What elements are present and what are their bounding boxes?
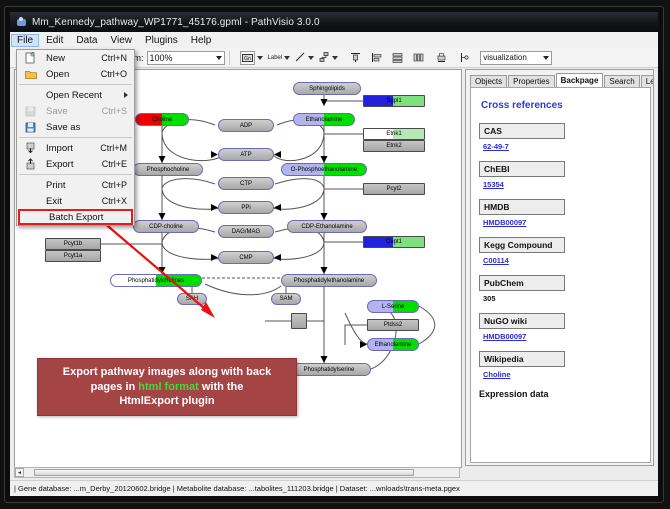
import-icon [24, 142, 37, 155]
file-menu-dropdown[interactable]: NewCtrl+NOpenCtrl+OOpen RecentSaveCtrl+S… [16, 49, 135, 226]
screenshot-frame: Mm_Kennedy_pathway_WP1771_45176.gpml - P… [0, 0, 670, 509]
menu-item-label: Save as [46, 122, 80, 133]
line-dropdown-icon[interactable] [308, 56, 314, 60]
menu-item-shortcut: Ctrl+N [101, 53, 127, 63]
menu-item-exit[interactable]: ExitCtrl+X [17, 193, 134, 209]
print-icon[interactable] [436, 52, 447, 63]
toolbar-separator [229, 51, 230, 65]
menu-separator [19, 137, 132, 138]
menu-separator [19, 84, 132, 85]
xref-db-label: HMDB [479, 199, 565, 215]
group-icon[interactable] [459, 52, 470, 63]
zoom-value: 100% [150, 53, 173, 63]
xref-db-label: Kegg Compound [479, 237, 565, 253]
menu-item-shortcut: Ctrl+S [102, 106, 127, 116]
menu-view[interactable]: View [104, 34, 138, 47]
status-text: | Gene database: ...m_Derby_20120602.bri… [14, 484, 460, 493]
status-bar: | Gene database: ...m_Derby_20120602.bri… [10, 480, 658, 496]
menu-item-shortcut: Ctrl+E [102, 159, 127, 169]
expression-data-heading: Expression data [479, 389, 642, 399]
tab-legend[interactable]: Legend [641, 75, 654, 87]
menu-item-label: New [46, 53, 65, 64]
menu-item-open-recent[interactable]: Open Recent [17, 87, 134, 103]
menu-item-open[interactable]: OpenCtrl+O [17, 66, 134, 82]
xref-value: 305 [483, 294, 642, 303]
menu-item-label: Save [46, 106, 68, 117]
menu-item-label: Batch Export [49, 212, 103, 223]
menu-help[interactable]: Help [185, 34, 218, 47]
menu-item-shortcut: Ctrl+O [101, 69, 127, 79]
export-icon [24, 158, 37, 171]
menu-item-label: Print [46, 180, 66, 191]
stack-icon[interactable] [392, 52, 403, 63]
menu-item-print[interactable]: PrintCtrl+P [17, 177, 134, 193]
xref-db-label: NuGO wiki [479, 313, 565, 329]
annotation-callout: Export pathway images along with back pa… [37, 358, 297, 416]
chevron-down-icon [543, 56, 549, 60]
annotation-line1: Export pathway images along with back [63, 366, 271, 378]
menu-file[interactable]: File [11, 34, 39, 47]
xref-db-label: PubChem [479, 275, 565, 291]
save-icon [24, 105, 37, 118]
cross-reference-list: CAS62-49-7ChEBI15354HMDBHMDB00097Kegg Co… [479, 123, 642, 379]
new-file-icon [24, 52, 37, 65]
canvas-hscrollbar[interactable]: ◄ [14, 467, 460, 478]
connector-dropdown-icon[interactable] [332, 56, 338, 60]
menu-item-label: Export [46, 159, 73, 170]
menu-item-import[interactable]: ImportCtrl+M [17, 140, 134, 156]
pathvisio-window: Mm_Kennedy_pathway_WP1771_45176.gpml - P… [10, 12, 658, 496]
zoom-combobox[interactable]: 100% [147, 51, 225, 65]
menu-item-save: SaveCtrl+S [17, 103, 134, 119]
chevron-down-icon [216, 56, 222, 60]
annotation-line2-b: with the [199, 381, 244, 393]
xref-link[interactable]: 15354 [483, 180, 642, 189]
menu-bar[interactable]: File Edit Data View Plugins Help [10, 32, 658, 49]
chevron-right-icon [124, 92, 128, 98]
backpage-content[interactable]: Cross references CAS62-49-7ChEBI15354HMD… [470, 87, 651, 463]
xref-db-label: ChEBI [479, 161, 565, 177]
label-dropdown-icon[interactable] [284, 56, 290, 60]
menu-item-label: Exit [46, 196, 62, 207]
save-as-icon [24, 121, 37, 134]
xref-link[interactable]: 62-49-7 [483, 142, 642, 151]
menu-data[interactable]: Data [70, 34, 103, 47]
cross-references-heading: Cross references [481, 100, 642, 111]
menu-item-label: Open [46, 69, 69, 80]
window-title: Mm_Kennedy_pathway_WP1771_45176.gpml - P… [32, 17, 320, 28]
menu-item-batch-export[interactable]: Batch Export [18, 209, 133, 225]
visualization-combobox[interactable]: visualization [480, 51, 552, 65]
menu-item-new[interactable]: NewCtrl+N [17, 50, 134, 66]
pathvisio-icon [16, 17, 27, 28]
align-top-icon[interactable] [350, 52, 361, 63]
annotation-text: Export pathway images along with back pa… [55, 365, 279, 410]
side-panel: Objects Properties Backpage Search Legen… [465, 69, 654, 466]
tab-properties[interactable]: Properties [508, 75, 554, 87]
hscroll-thumb[interactable] [34, 469, 414, 476]
visualization-value: visualization [483, 53, 527, 62]
label-tool-button[interactable]: Label [268, 55, 283, 61]
align-left-icon[interactable] [371, 52, 382, 63]
menu-item-shortcut: Ctrl+X [102, 196, 127, 206]
menu-item-save-as[interactable]: Save as [17, 119, 134, 135]
menu-item-label: Open Recent [46, 90, 102, 101]
side-panel-tabs[interactable]: Objects Properties Backpage Search Legen… [470, 73, 654, 87]
annotation-highlight: html format [138, 381, 199, 393]
menu-plugins[interactable]: Plugins [139, 34, 184, 47]
menu-edit[interactable]: Edit [40, 34, 69, 47]
svg-text:Gn: Gn [244, 56, 251, 62]
xref-db-label: CAS [479, 123, 565, 139]
xref-link[interactable]: C00114 [483, 256, 642, 265]
xref-link[interactable]: HMDB00097 [483, 218, 642, 227]
annotation-line2-a: pages in [91, 381, 139, 393]
scroll-left-button[interactable]: ◄ [15, 468, 24, 477]
datanode-dropdown-icon[interactable] [257, 56, 263, 60]
tab-backpage[interactable]: Backpage [556, 73, 604, 87]
line-tool-icon[interactable] [295, 52, 306, 63]
tab-objects[interactable]: Objects [470, 75, 507, 87]
datanode-tool-button[interactable]: Gn [240, 51, 255, 65]
annotation-line3: HtmlExport plugin [119, 395, 214, 407]
menu-separator [19, 174, 132, 175]
title-bar: Mm_Kennedy_pathway_WP1771_45176.gpml - P… [10, 12, 658, 32]
connector-tool-icon[interactable] [319, 52, 330, 63]
xref-link[interactable]: Choline [483, 370, 642, 379]
xref-db-label: Wikipedia [479, 351, 565, 367]
tab-search[interactable]: Search [604, 75, 639, 87]
menu-item-label: Import [46, 143, 73, 154]
menu-item-shortcut: Ctrl+P [102, 180, 127, 190]
xref-link[interactable]: HMDB00097 [483, 332, 642, 341]
menu-item-export[interactable]: ExportCtrl+E [17, 156, 134, 172]
folder-icon [24, 68, 37, 81]
menu-item-shortcut: Ctrl+M [100, 143, 127, 153]
distribute-icon[interactable] [413, 52, 424, 63]
